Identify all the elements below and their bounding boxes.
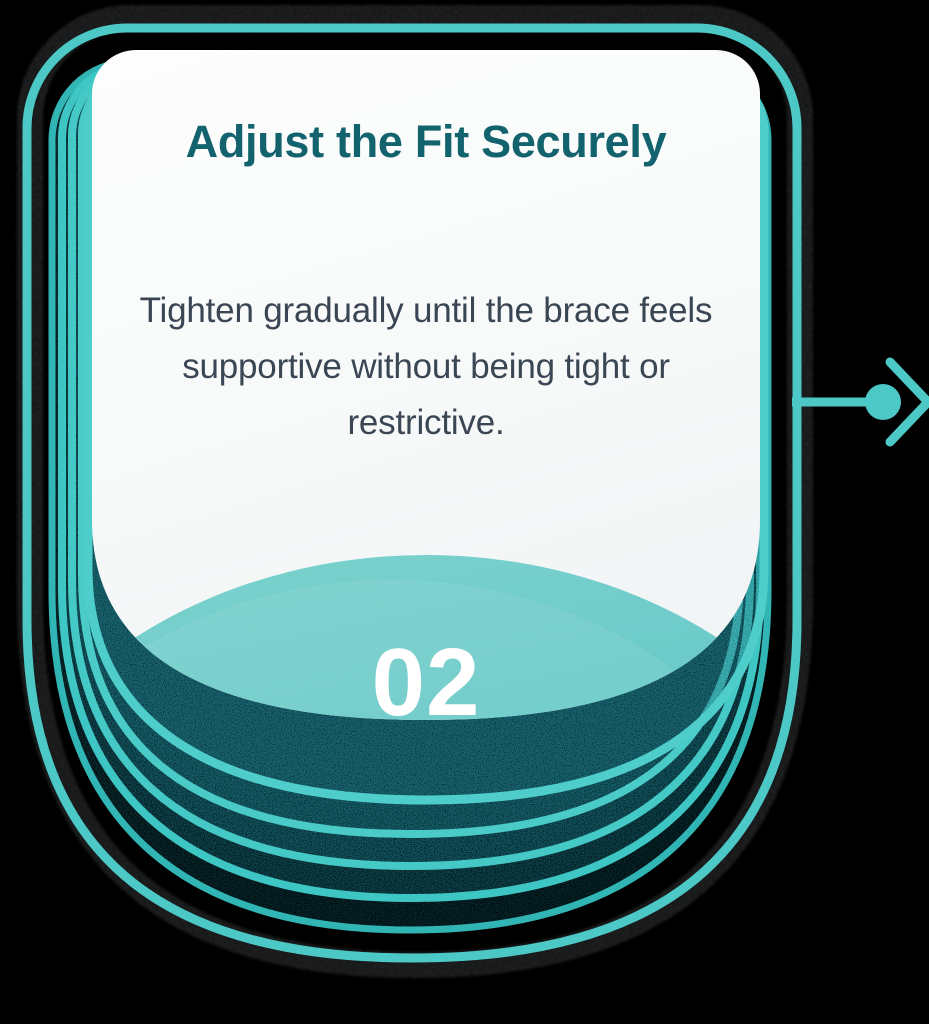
step-card-scene: Adjust the Fit Securely Tighten graduall… — [0, 0, 929, 1024]
next-step-connector[interactable] — [770, 330, 929, 480]
card-title: Adjust the Fit Securely — [92, 112, 760, 171]
step-card: Adjust the Fit Securely Tighten graduall… — [92, 50, 760, 720]
step-number-badge: 02 — [92, 628, 760, 720]
dot-icon — [865, 384, 901, 420]
card-description: Tighten gradually until the brace feels … — [92, 283, 760, 451]
